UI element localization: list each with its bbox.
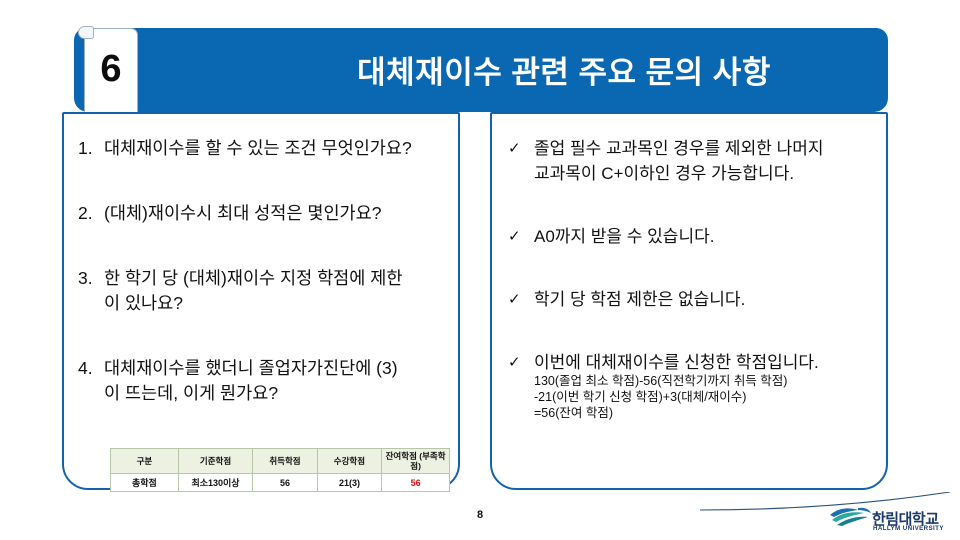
university-logo: 한림대학교 HALLYM UNIVERSITY — [828, 502, 952, 536]
answer-calculation-detail: 130(졸업 최소 학점)-56(직전학기까지 취득 학점) -21(이번 학기… — [534, 373, 878, 421]
list-item: 1. 대체재이수를 할 수 있는 조건 무엇인가요? — [78, 136, 450, 161]
header-bar: 대체재이수 관련 주요 문의 사항 — [74, 28, 888, 112]
table-cell-remaining-credits: 56 — [382, 474, 450, 492]
list-item: ✓ 이번에 대체재이수를 신청한 학점입니다. — [508, 350, 878, 375]
section-number-label: 6 — [84, 48, 138, 91]
table-cell: 21(3) — [317, 474, 381, 492]
table-cell: 최소130이상 — [178, 474, 252, 492]
question-text: (대체)재이수시 최대 성적은 몇인가요? — [104, 201, 450, 226]
question-text: 한 학기 당 (대체)재이수 지정 학점에 제한 이 있나요? — [104, 266, 450, 316]
table-header-cell: 잔여학점 (부족학점) — [382, 449, 450, 474]
table-header-cell: 기준학점 — [178, 449, 252, 474]
list-item: 4. 대체재이수를 했더니 졸업자가진단에 (3) 이 뜨는데, 이게 뭔가요? — [78, 356, 450, 406]
answer-text: 학기 당 학점 제한은 없습니다. — [534, 287, 878, 312]
check-icon: ✓ — [508, 287, 534, 312]
answer-text: 이번에 대체재이수를 신청한 학점입니다. — [534, 350, 878, 375]
answer-text: A0까지 받을 수 있습니다. — [534, 224, 878, 249]
scroll-curl-top-icon — [78, 26, 94, 39]
questions-panel: 1. 대체재이수를 할 수 있는 조건 무엇인가요? 2. (대체)재이수시 최… — [62, 112, 460, 490]
table-header-row: 구분 기준학점 취득학점 수강학점 잔여학점 (부족학점) — [111, 449, 450, 474]
list-item: ✓ 학기 당 학점 제한은 없습니다. — [508, 287, 878, 312]
list-item: 3. 한 학기 당 (대체)재이수 지정 학점에 제한 이 있나요? — [78, 266, 450, 316]
slide-root: 대체재이수 관련 주요 문의 사항 6 1. 대체재이수를 할 수 있는 조건 … — [0, 0, 960, 540]
table-cell: 56 — [253, 474, 317, 492]
answers-list: ✓ 졸업 필수 교과목인 경우를 제외한 나머지 교과목이 C+이하인 경우 가… — [508, 136, 878, 421]
table-cell: 총학점 — [111, 474, 179, 492]
list-item: 2. (대체)재이수시 최대 성적은 몇인가요? — [78, 201, 450, 226]
question-number: 2. — [78, 201, 104, 226]
page-title: 대체재이수 관련 주요 문의 사항 — [234, 56, 894, 90]
question-text: 대체재이수를 했더니 졸업자가진단에 (3) 이 뜨는데, 이게 뭔가요? — [104, 356, 450, 406]
answer-text: 졸업 필수 교과목인 경우를 제외한 나머지 교과목이 C+이하인 경우 가능합… — [534, 136, 878, 186]
logo-text-english: HALLYM UNIVERSITY — [873, 525, 944, 532]
question-number: 3. — [78, 266, 104, 291]
questions-list: 1. 대체재이수를 할 수 있는 조건 무엇인가요? 2. (대체)재이수시 최… — [78, 136, 450, 412]
table-header-cell: 취득학점 — [253, 449, 317, 474]
table-header-cell: 구분 — [111, 449, 179, 474]
table-header-cell: 수강학점 — [317, 449, 381, 474]
question-text: 대체재이수를 할 수 있는 조건 무엇인가요? — [104, 136, 450, 161]
check-icon: ✓ — [508, 136, 534, 161]
credit-summary-table: 구분 기준학점 취득학점 수강학점 잔여학점 (부족학점) 총학점 최소130이… — [110, 448, 450, 492]
check-icon: ✓ — [508, 350, 534, 375]
check-icon: ✓ — [508, 224, 534, 249]
table-row: 총학점 최소130이상 56 21(3) 56 — [111, 474, 450, 492]
question-number: 1. — [78, 136, 104, 161]
answers-panel: ✓ 졸업 필수 교과목인 경우를 제외한 나머지 교과목이 C+이하인 경우 가… — [490, 112, 888, 490]
question-number: 4. — [78, 356, 104, 381]
list-item: ✓ 졸업 필수 교과목인 경우를 제외한 나머지 교과목이 C+이하인 경우 가… — [508, 136, 878, 186]
hallym-wave-icon — [828, 504, 872, 530]
list-item: ✓ A0까지 받을 수 있습니다. — [508, 224, 878, 249]
